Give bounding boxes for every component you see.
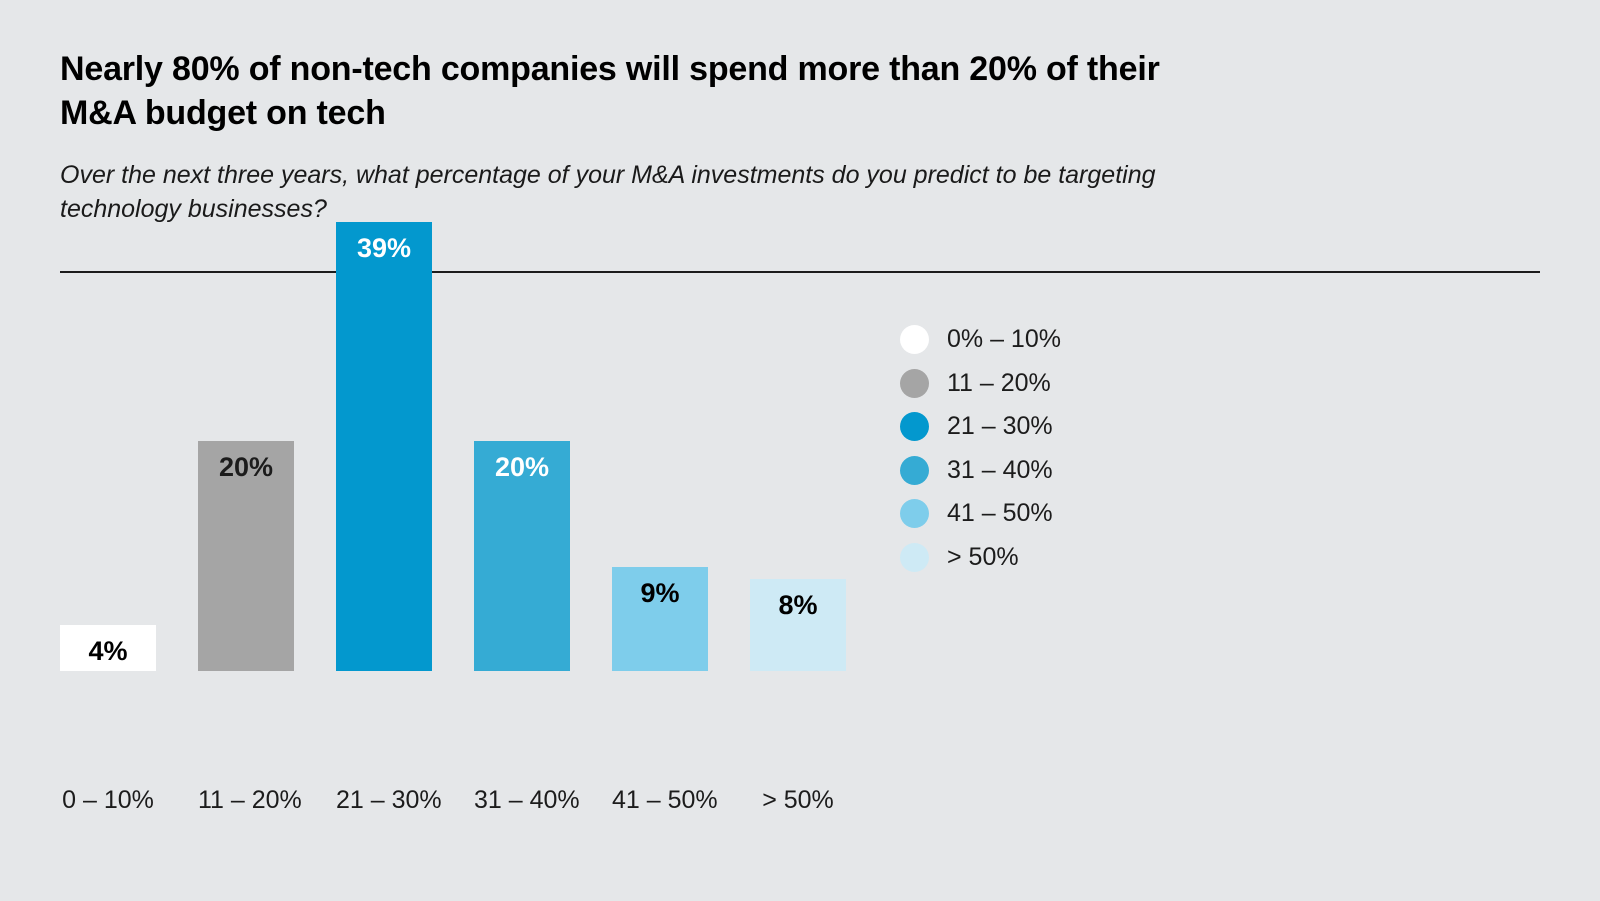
legend-item-2: 11 – 20% — [900, 362, 1320, 406]
legend-swatch-circle-icon — [900, 543, 929, 572]
legend-item-3: 21 – 30% — [900, 405, 1320, 449]
legend-swatch-circle-icon — [900, 369, 929, 398]
bar-1: 4% — [60, 625, 156, 671]
legend-swatch-circle-icon — [900, 456, 929, 485]
bar-value-label: 9% — [640, 567, 679, 607]
x-tick-label: 41 – 50% — [612, 772, 708, 815]
bar-value-label: 20% — [495, 441, 549, 481]
x-tick-label: 31 – 40% — [474, 772, 570, 815]
legend-item-4: 31 – 40% — [900, 449, 1320, 493]
legend-item-1: 0% – 10% — [900, 318, 1320, 362]
x-tick-label: > 50% — [750, 772, 846, 815]
bar-value-label: 8% — [778, 579, 817, 619]
legend-item-5: 41 – 50% — [900, 492, 1320, 536]
chart-page: Nearly 80% of non-tech companies will sp… — [0, 0, 1600, 901]
bar-6: 8% — [750, 579, 846, 671]
bar-series: 4%20%39%20%9%8% — [60, 199, 860, 671]
x-tick-label: 21 – 30% — [336, 772, 432, 815]
x-tick-label: 11 – 20% — [198, 772, 294, 815]
chart-title: Nearly 80% of non-tech companies will sp… — [60, 48, 1200, 135]
legend-item-label: 31 – 40% — [947, 456, 1053, 485]
legend-item-label: 11 – 20% — [947, 369, 1051, 398]
bar-5: 9% — [612, 567, 708, 671]
bar-value-label: 39% — [357, 222, 411, 262]
legend-swatch-circle-icon — [900, 499, 929, 528]
chart-legend: 0% – 10%11 – 20%21 – 30%31 – 40%41 – 50%… — [900, 318, 1320, 579]
legend-item-6: > 50% — [900, 536, 1320, 580]
bar-value-label: 4% — [88, 625, 127, 665]
x-tick-label: 0 – 10% — [60, 772, 156, 815]
legend-item-label: 41 – 50% — [947, 499, 1053, 528]
legend-swatch-circle-icon — [900, 412, 929, 441]
legend-item-label: 21 – 30% — [947, 412, 1053, 441]
legend-swatch-circle-icon — [900, 325, 929, 354]
legend-item-label: > 50% — [947, 543, 1019, 572]
bar-value-label: 20% — [219, 441, 273, 481]
bar-3: 39% — [336, 222, 432, 671]
bar-2: 20% — [198, 441, 294, 671]
bar-4: 20% — [474, 441, 570, 671]
x-axis-tick-labels: 0 – 10%11 – 20%21 – 30%31 – 40%41 – 50%>… — [60, 772, 860, 815]
bar-chart-plot-area: 4%20%39%20%9%8% 0 – 10%11 – 20%21 – 30%3… — [60, 300, 860, 800]
legend-item-label: 0% – 10% — [947, 325, 1061, 354]
